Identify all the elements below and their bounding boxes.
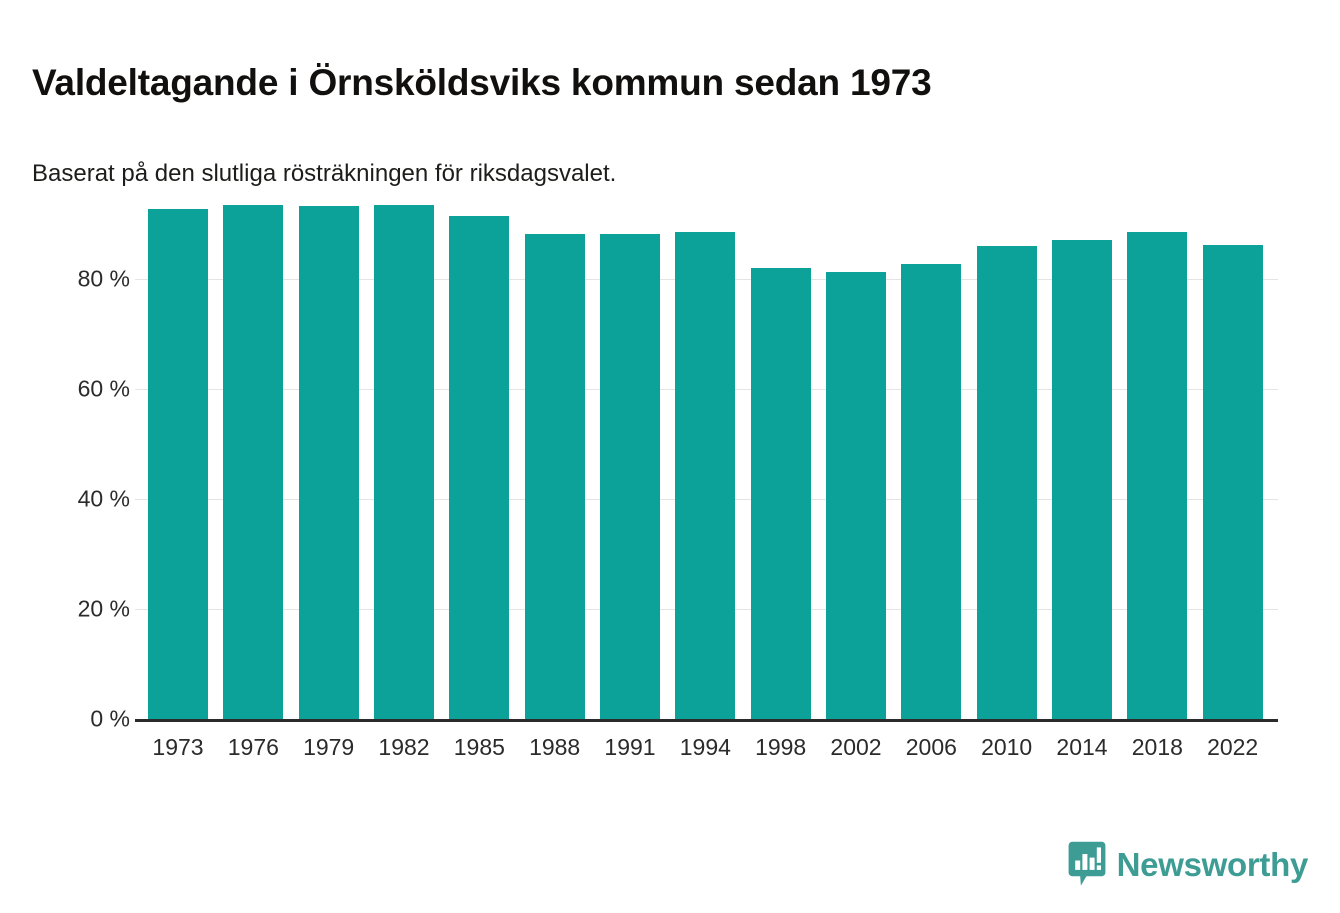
- x-tick-label-1985: 1985: [449, 734, 509, 761]
- bar-column[interactable]: [1127, 190, 1187, 719]
- page-title: Valdeltagande i Örnsköldsviks kommun sed…: [32, 63, 1292, 104]
- x-tick-label-1991: 1991: [600, 734, 660, 761]
- bar-1988[interactable]: [525, 234, 585, 719]
- bar-2018[interactable]: [1127, 232, 1187, 719]
- x-tick-label-2018: 2018: [1127, 734, 1187, 761]
- bar-column[interactable]: [449, 190, 509, 719]
- chart-subtitle: Baserat på den slutliga rösträkningen fö…: [32, 160, 1292, 189]
- y-tick-label: 40 %: [40, 486, 130, 513]
- bar-1976[interactable]: [223, 205, 283, 719]
- bar-column[interactable]: [901, 190, 961, 719]
- bar-1982[interactable]: [374, 205, 434, 719]
- bar-column[interactable]: [374, 190, 434, 719]
- x-tick-label-1998: 1998: [751, 734, 811, 761]
- y-axis-labels: 0 %20 %40 %60 %80 %: [30, 190, 130, 720]
- x-tick-label-1982: 1982: [374, 734, 434, 761]
- bar-1979[interactable]: [299, 206, 359, 719]
- x-tick-label-2002: 2002: [826, 734, 886, 761]
- bar-1991[interactable]: [600, 234, 660, 719]
- bar-2002[interactable]: [826, 272, 886, 719]
- x-tick-label-2006: 2006: [901, 734, 961, 761]
- x-axis-labels: 1973197619791982198519881991199419982002…: [148, 734, 1278, 770]
- x-tick-label-2014: 2014: [1052, 734, 1112, 761]
- bar-column[interactable]: [1052, 190, 1112, 719]
- y-tick-label: 60 %: [40, 376, 130, 403]
- bar-1998[interactable]: [751, 268, 811, 719]
- bar-column[interactable]: [223, 190, 283, 719]
- bar-2010[interactable]: [977, 246, 1037, 719]
- bar-column[interactable]: [600, 190, 660, 719]
- y-tick-label: 0 %: [40, 706, 130, 733]
- bar-column[interactable]: [751, 190, 811, 719]
- x-tick-label-2010: 2010: [977, 734, 1037, 761]
- bar-column[interactable]: [675, 190, 735, 719]
- x-tick-label-1976: 1976: [223, 734, 283, 761]
- bar-2022[interactable]: [1203, 245, 1263, 719]
- newsworthy-logo[interactable]: Newsworthy: [1068, 841, 1308, 887]
- bar-1994[interactable]: [675, 232, 735, 719]
- x-tick-label-1988: 1988: [525, 734, 585, 761]
- bar-1985[interactable]: [449, 216, 509, 719]
- plot-area: [148, 190, 1278, 720]
- chart-page: Valdeltagande i Örnsköldsviks kommun sed…: [0, 0, 1340, 913]
- x-axis-line: [135, 719, 1278, 722]
- newsworthy-bar-chart-bubble-icon: [1068, 841, 1106, 887]
- x-tick-label-1973: 1973: [148, 734, 208, 761]
- x-tick-label-2022: 2022: [1203, 734, 1263, 761]
- bar-1973[interactable]: [148, 209, 208, 719]
- bar-column[interactable]: [1203, 190, 1263, 719]
- bar-2006[interactable]: [901, 264, 961, 719]
- x-tick-label-1979: 1979: [299, 734, 359, 761]
- bar-column[interactable]: [826, 190, 886, 719]
- bar-column[interactable]: [525, 190, 585, 719]
- bar-column[interactable]: [148, 190, 208, 719]
- bar-column[interactable]: [977, 190, 1037, 719]
- bar-column[interactable]: [299, 190, 359, 719]
- bar-2014[interactable]: [1052, 240, 1112, 719]
- newsworthy-wordmark: Newsworthy: [1117, 848, 1308, 881]
- x-tick-label-1994: 1994: [675, 734, 735, 761]
- y-tick-label: 80 %: [40, 266, 130, 293]
- y-tick-label: 20 %: [40, 596, 130, 623]
